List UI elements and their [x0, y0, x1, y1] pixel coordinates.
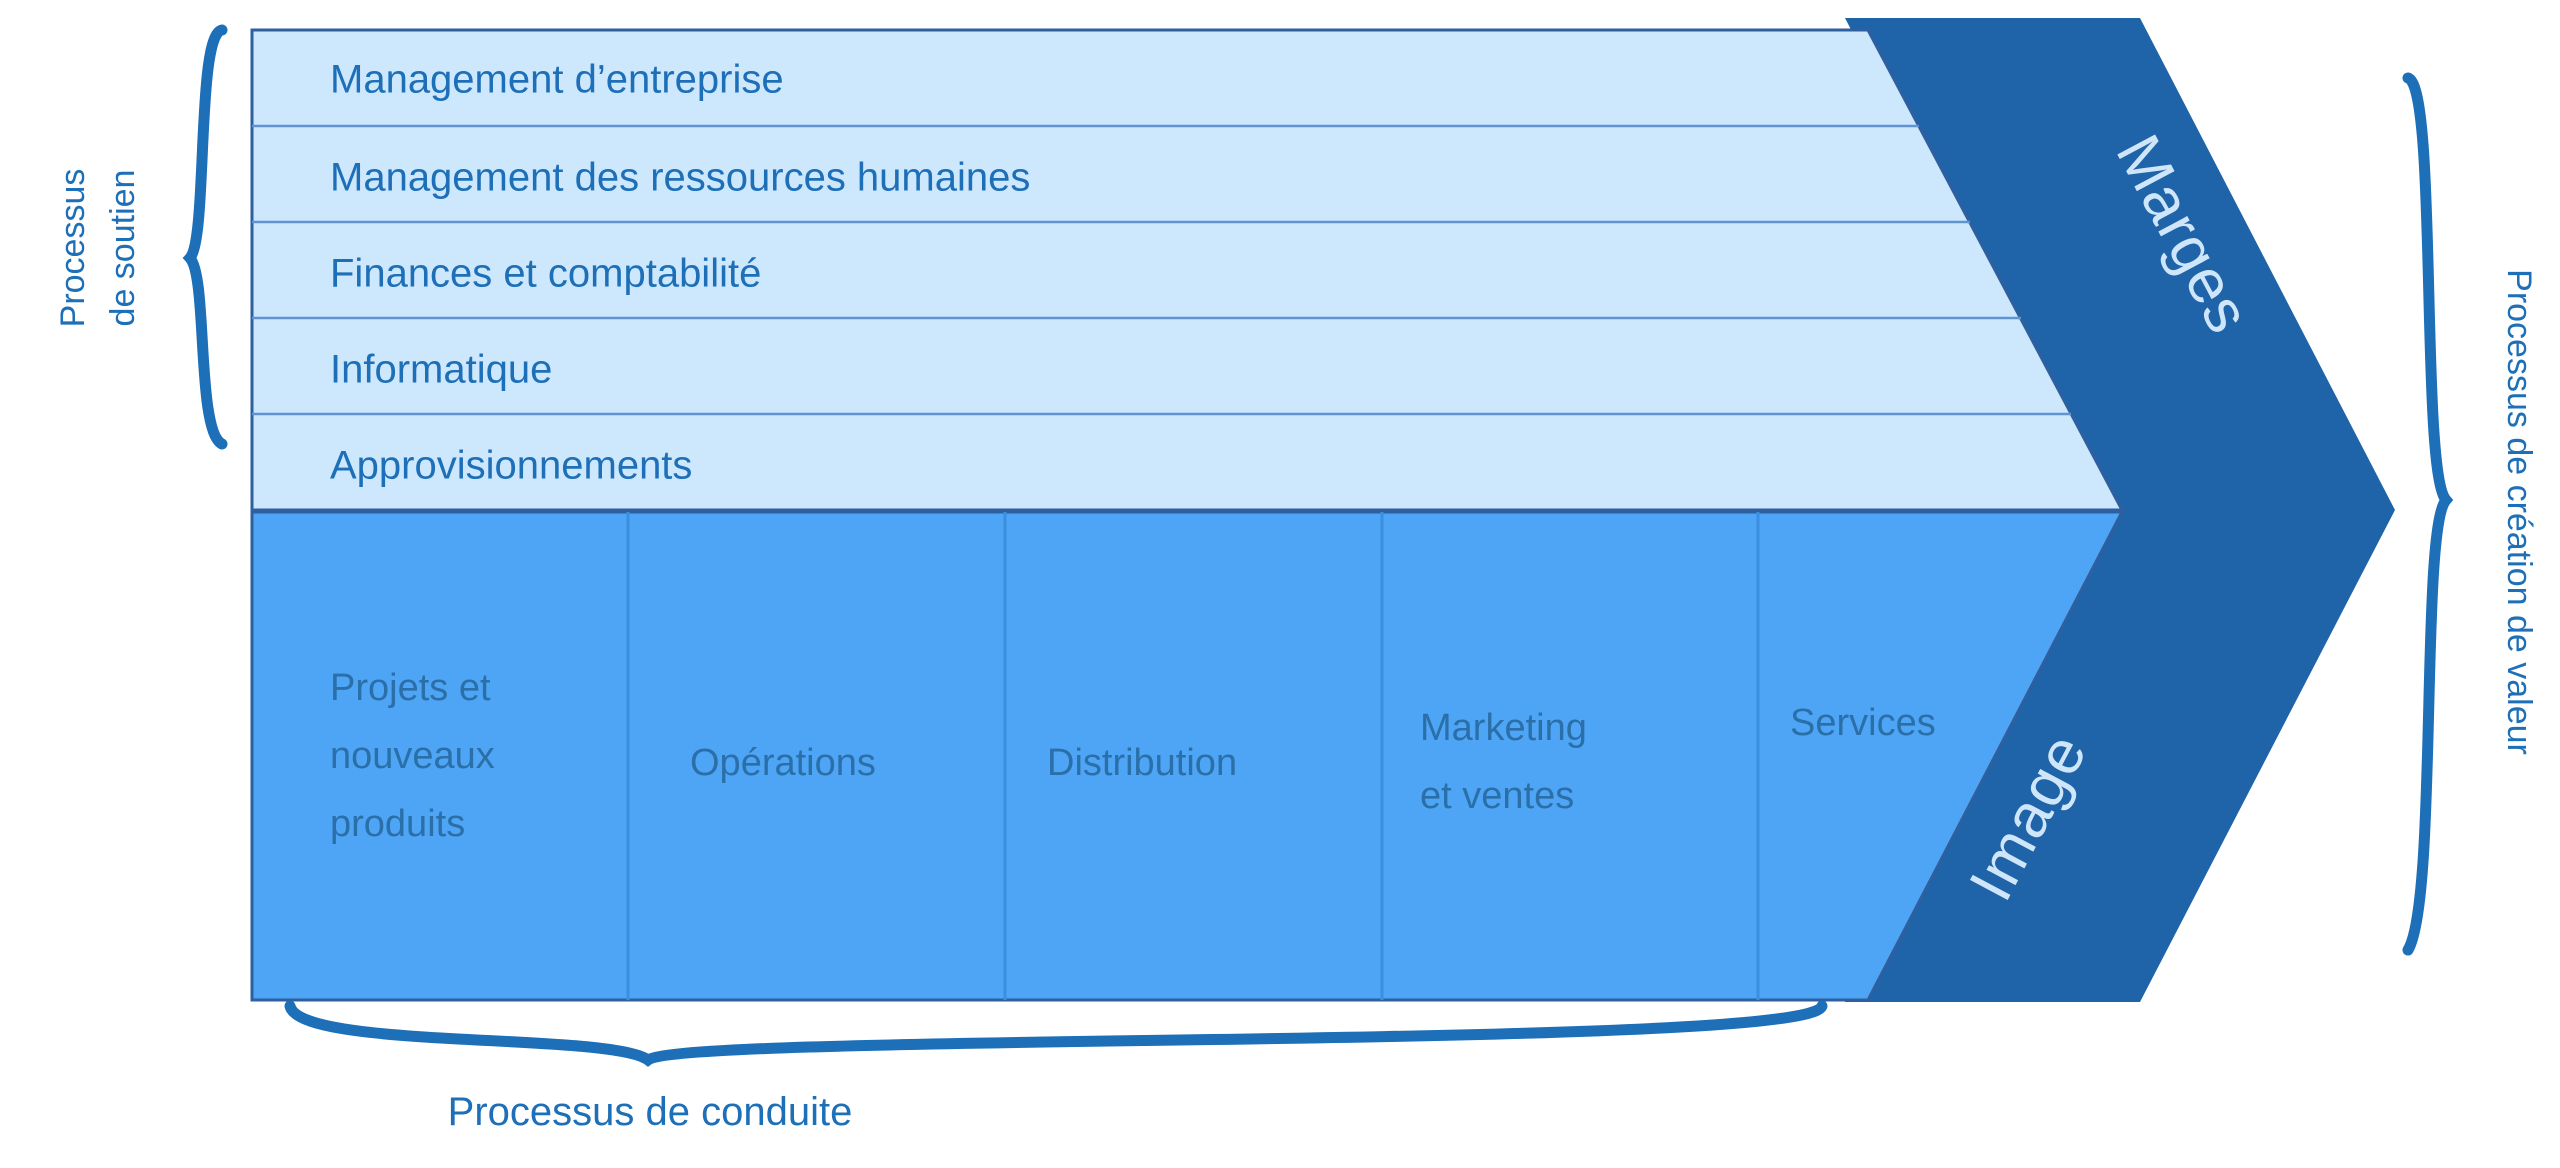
primary-col-label-2: Distribution: [1047, 742, 1237, 784]
primary-process-block: Projets et nouveaux produits Opérations …: [252, 512, 2122, 1000]
value-creation-brace-group: Processus de création de valeur: [2408, 78, 2538, 950]
primary-col-1-line-0: Opérations: [690, 742, 876, 784]
primary-col-2-line-0: Distribution: [1047, 742, 1237, 784]
primary-col-3-line-0: Marketing: [1420, 707, 1587, 749]
value-chain-diagram: Marges Image Management d’entreprise Man…: [0, 0, 2560, 1168]
primary-col-label-1: Opérations: [690, 742, 876, 784]
value-creation-brace-label: Processus de création de valeur: [2500, 269, 2538, 755]
support-brace-label-line1: Processus: [54, 169, 92, 328]
primary-col-0-line-0: Projets et: [330, 667, 491, 709]
primary-col-0-line-2: produits: [330, 803, 465, 845]
conduite-brace-label: Processus de conduite: [448, 1090, 853, 1134]
primary-col-3-line-1: et ventes: [1420, 775, 1574, 817]
support-row-label-3: Informatique: [330, 348, 552, 392]
primary-col-0-line-1: nouveaux: [330, 735, 495, 777]
support-brace-label-line2: de soutien: [104, 170, 142, 327]
value-chain-svg: Marges Image Management d’entreprise Man…: [0, 0, 2560, 1168]
support-row-label-4: Approvisionnements: [330, 444, 692, 488]
support-brace: [190, 30, 222, 444]
conduite-brace: [290, 1006, 1822, 1060]
value-creation-brace: [2408, 78, 2446, 950]
primary-col-label-4: Services: [1790, 702, 1936, 744]
support-row-label-1: Management des ressources humaines: [330, 156, 1030, 200]
support-row-label-2: Finances et comptabilité: [330, 252, 761, 296]
conduite-brace-group: Processus de conduite: [290, 1006, 1822, 1134]
support-process-block: Management d’entreprise Management des r…: [252, 30, 2122, 510]
primary-col-4-line-0: Services: [1790, 702, 1936, 744]
support-row-label-0: Management d’entreprise: [330, 58, 784, 102]
support-brace-group: Processus de soutien: [54, 30, 222, 444]
